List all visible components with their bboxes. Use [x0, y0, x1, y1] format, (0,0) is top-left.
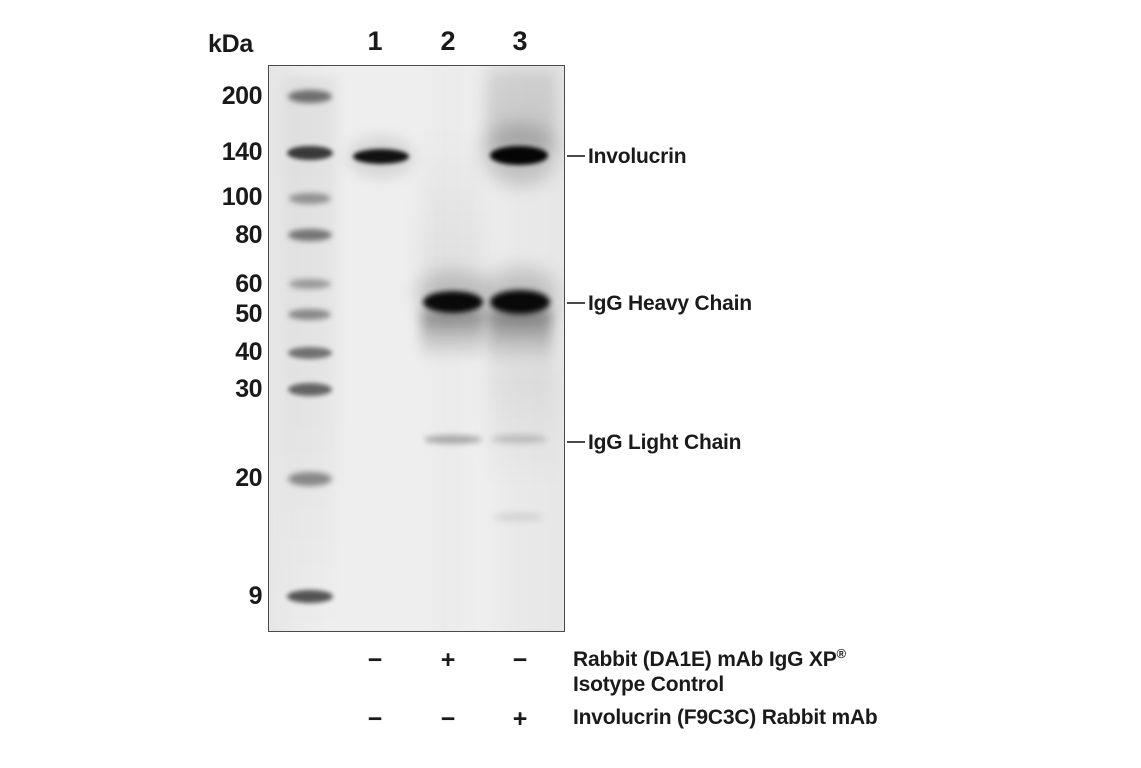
lane1-involucrin-band: [353, 149, 409, 164]
lane3-lower-artifact: [493, 513, 543, 521]
isotype-control-lane2-sign: +: [428, 648, 468, 673]
lane-number-2: 2: [428, 26, 468, 57]
annotation-label-igg-light-chain: IgG Light Chain: [588, 431, 741, 455]
ladder-band-200: [288, 90, 332, 103]
treatment-line-2: Isotype Control: [573, 673, 724, 696]
involucrin-mab-lane2-sign: −: [428, 707, 468, 732]
blot-membrane: [268, 65, 565, 632]
lane-number-3: 3: [500, 26, 540, 57]
lane3-upper-haze: [485, 68, 557, 148]
igg-heavy-chain-tick-icon: [567, 302, 585, 304]
mw-marker-80: 80: [198, 223, 262, 248]
lane3-igg-light-chain-band: [491, 435, 547, 443]
lane3-igg-heavy-chain-band: [490, 290, 550, 314]
mw-marker-20: 20: [198, 466, 262, 491]
isotype-control-lane3-sign: −: [500, 648, 540, 673]
mw-marker-9: 9: [198, 584, 262, 609]
ladder-band-30: [288, 383, 332, 396]
mw-marker-200: 200: [198, 84, 262, 109]
lane2-upper-haze: [419, 126, 487, 296]
lane2-igg-heavy-chain-halo: [417, 271, 489, 319]
lane2-igg-heavy-chain-smear: [421, 310, 485, 362]
ladder-band-80: [288, 229, 332, 241]
western-blot-figure: kDa 1 2 3 200 140 100 80 60 50 40 30 20 …: [0, 0, 1141, 768]
ladder-lane-haze: [283, 76, 337, 632]
lane3-igg-heavy-chain-smear: [488, 310, 552, 368]
ladder-band-60: [289, 279, 331, 289]
ladder-band-40: [288, 347, 332, 359]
lane2-igg-light-chain-band: [424, 435, 482, 444]
mw-marker-40: 40: [198, 340, 262, 365]
lane-number-1: 1: [355, 26, 395, 57]
mw-marker-100: 100: [198, 185, 262, 210]
ladder-band-9: [287, 590, 333, 603]
mw-marker-50: 50: [198, 302, 262, 327]
ladder-band-100: [289, 193, 331, 204]
involucrin-tick-icon: [567, 155, 585, 157]
annotation-label-involucrin: Involucrin: [588, 145, 686, 169]
involucrin-mab-lane3-sign: +: [500, 707, 540, 732]
annotation-label-igg-heavy-chain: IgG Heavy Chain: [588, 292, 752, 316]
lane3-involucrin-halo: [484, 124, 556, 186]
treatment-label-isotype-control: Rabbit (DA1E) mAb IgG XP® Isotype Contro…: [573, 641, 846, 697]
mw-marker-60: 60: [198, 272, 262, 297]
treatment-row2-line-1: Involucrin (F9C3C) Rabbit mAb: [573, 706, 878, 729]
ladder-band-140: [287, 146, 333, 160]
treatment-label-involucrin-mab: Involucrin (F9C3C) Rabbit mAb: [573, 705, 878, 730]
involucrin-mab-lane1-sign: −: [355, 707, 395, 732]
mw-marker-30: 30: [198, 377, 262, 402]
ladder-band-20: [288, 472, 332, 486]
lane2-igg-heavy-chain-band: [423, 291, 483, 313]
igg-light-chain-tick-icon: [567, 441, 585, 443]
lane3-involucrin-band: [490, 146, 548, 165]
mw-marker-column: 200 140 100 80 60 50 40 30 20 9: [196, 0, 262, 768]
treatment-line-1: Rabbit (DA1E) mAb IgG XP: [573, 648, 837, 671]
lane1-involucrin-halo: [348, 136, 414, 178]
mw-marker-140: 140: [198, 140, 262, 165]
registered-trademark-icon: ®: [837, 646, 846, 661]
ladder-band-50: [288, 309, 331, 320]
lane3-igg-heavy-chain-halo: [483, 268, 557, 320]
lane3-midlane-haze: [487, 366, 557, 486]
isotype-control-lane1-sign: −: [355, 648, 395, 673]
